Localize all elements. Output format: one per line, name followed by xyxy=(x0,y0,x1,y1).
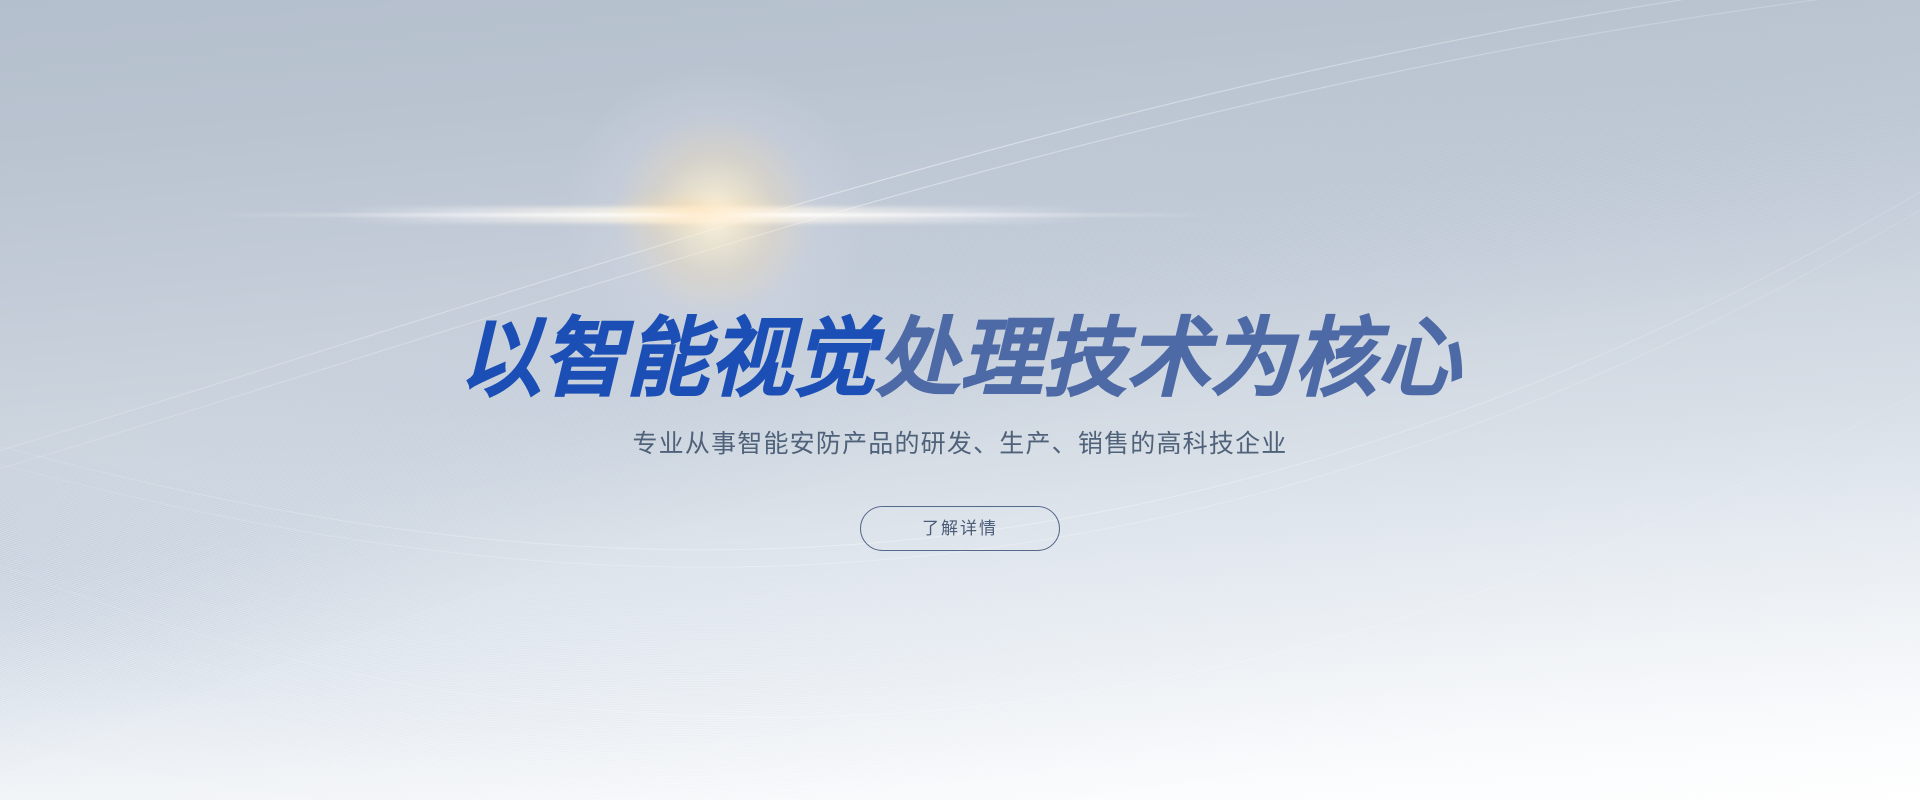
learn-more-button[interactable]: 了解详情 xyxy=(860,506,1060,551)
page-title: 以智能视觉处理技术为核心 xyxy=(38,316,1881,402)
hero-banner: 以智能视觉处理技术为核心 专业从事智能安防产品的研发、生产、销售的高科技企业 了… xyxy=(0,0,1920,800)
banner-content: 以智能视觉处理技术为核心 专业从事智能安防产品的研发、生产、销售的高科技企业 了… xyxy=(0,0,1920,800)
cta-container: 了解详情 xyxy=(0,506,1920,551)
headline-secondary-segment: 处理技术为核心 xyxy=(876,311,1461,407)
headline-primary-segment: 以智能视觉 xyxy=(459,311,877,407)
page-subtitle: 专业从事智能安防产品的研发、生产、销售的高科技企业 xyxy=(0,428,1920,461)
